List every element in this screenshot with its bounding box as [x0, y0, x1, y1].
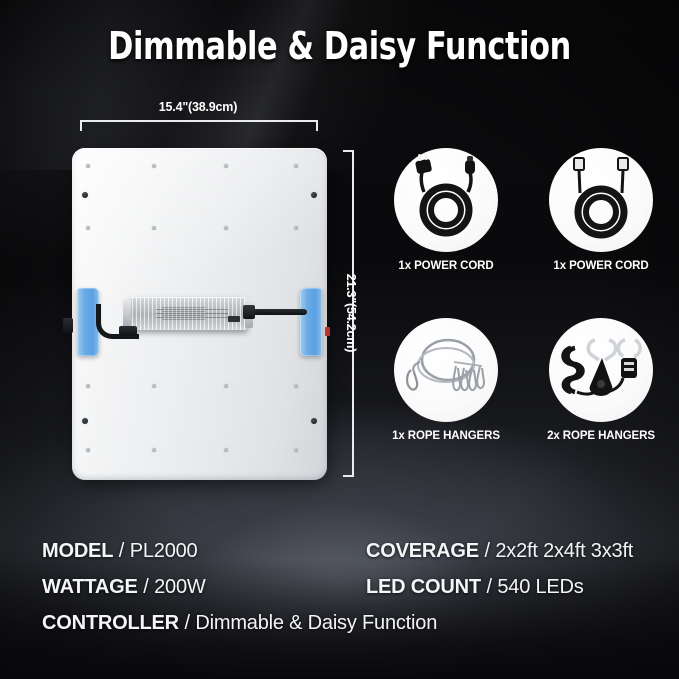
spec-value: 200W	[154, 576, 205, 598]
spec-separator: /	[184, 612, 189, 634]
accessory-power-cord-1: 1x POWER CORD	[394, 148, 498, 252]
accessory-label: 1x POWER CORD	[517, 260, 679, 272]
driver-label	[156, 307, 228, 321]
panel-side-connector	[63, 318, 73, 333]
driver-output-cable	[247, 309, 307, 315]
spec-value: 2x2ft 2x4ft 3x3ft	[495, 540, 633, 562]
panel-screw	[224, 448, 228, 452]
accessory-label: 1x ROPE HANGERS	[362, 430, 530, 442]
spec-value: PL2000	[130, 540, 198, 562]
panel-indicator-red	[325, 327, 330, 336]
spec-separator: /	[486, 576, 491, 598]
panel-screw	[82, 418, 88, 424]
spec-model: MODEL / PL2000	[42, 540, 197, 563]
spec-separator: /	[119, 540, 124, 562]
panel-screw	[86, 448, 90, 452]
led-driver-box	[128, 297, 248, 330]
width-dimension-label: 15.4"(38.9cm)	[78, 100, 318, 114]
panel-screw	[294, 226, 298, 230]
spec-key: MODEL	[42, 540, 113, 562]
panel-screw	[152, 226, 156, 230]
panel-screw	[224, 226, 228, 230]
panel-screw	[224, 384, 228, 388]
spec-value: Dimmable & Daisy Function	[195, 612, 437, 634]
panel-screw	[311, 418, 317, 424]
panel-screw	[86, 226, 90, 230]
accessory-rope-hanger-2: 2x ROPE HANGERS	[549, 318, 653, 422]
panel-screw	[86, 164, 90, 168]
panel-screw	[82, 192, 88, 198]
accessory-power-cord-2: 1x POWER CORD	[549, 148, 653, 252]
spec-coverage: COVERAGE / 2x2ft 2x4ft 3x3ft	[366, 540, 633, 563]
led-panel	[72, 148, 327, 480]
driver-badge	[228, 316, 240, 322]
rope-hanger-cable-icon	[394, 318, 498, 422]
spec-led-count: LED COUNT / 540 LEDs	[366, 576, 584, 599]
spec-value: 540 LEDs	[497, 576, 583, 598]
panel-screw	[294, 448, 298, 452]
width-dimension-bracket	[80, 120, 318, 131]
panel-screw	[152, 164, 156, 168]
spec-separator: /	[143, 576, 148, 598]
mounting-bracket-right	[300, 288, 322, 356]
accessory-label: 2x ROPE HANGERS	[517, 430, 679, 442]
product-infographic: Dimmable & Daisy Function 15.4"(38.9cm) …	[0, 0, 679, 679]
accessory-label: 1x POWER CORD	[362, 260, 530, 272]
spec-wattage: WATTAGE / 200W	[42, 576, 206, 599]
spec-key: COVERAGE	[366, 540, 479, 562]
height-dimension-label: 21.3"(54.2cm)	[344, 243, 358, 383]
driver-output-plug	[243, 305, 255, 319]
panel-body	[72, 148, 327, 480]
page-title: Dimmable & Daisy Function	[68, 24, 611, 68]
power-cord-icon	[549, 148, 653, 252]
accessory-rope-hanger-1: 1x ROPE HANGERS	[394, 318, 498, 422]
panel-screw	[152, 448, 156, 452]
power-cord-icon	[394, 148, 498, 252]
spec-separator: /	[484, 540, 489, 562]
panel-screw	[224, 164, 228, 168]
panel-screw	[152, 384, 156, 388]
panel-screw	[86, 384, 90, 388]
rope-hanger-ratchet-icon	[549, 318, 653, 422]
panel-screw	[311, 192, 317, 198]
panel-screw	[294, 164, 298, 168]
spec-key: LED COUNT	[366, 576, 481, 598]
panel-screw	[294, 384, 298, 388]
spec-key: CONTROLLER	[42, 612, 179, 634]
spec-controller: CONTROLLER / Dimmable & Daisy Function	[42, 612, 437, 635]
driver-input-plug	[119, 326, 137, 336]
spec-key: WATTAGE	[42, 576, 138, 598]
